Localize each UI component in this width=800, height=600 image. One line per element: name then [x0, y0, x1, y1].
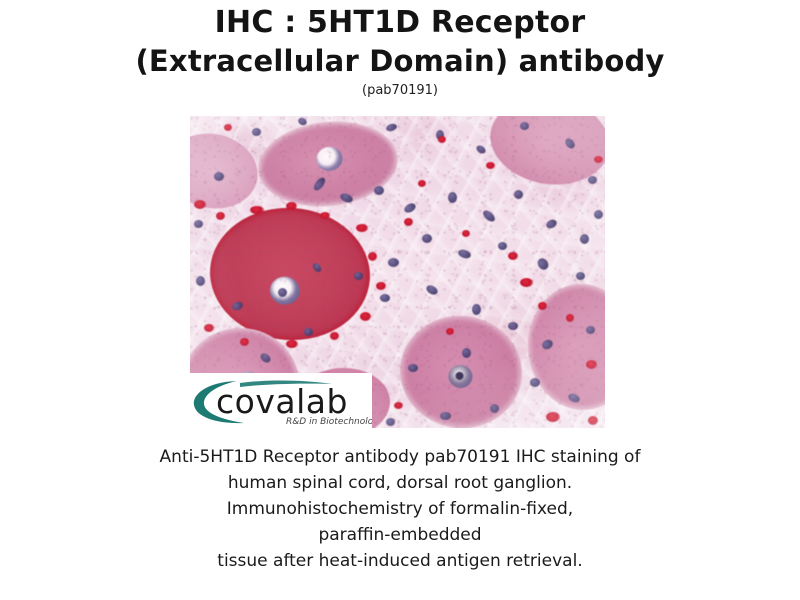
catalog-number: (pab70191) — [0, 82, 800, 99]
logo-wordmark: covalab — [216, 382, 348, 421]
caption-line: Immunohistochemistry of formalin-fixed, — [0, 496, 800, 522]
figure-caption: Anti-5HT1D Receptor antibody pab70191 IH… — [0, 444, 800, 574]
covalab-logo-svg: covalab R&D in Biotechnology — [190, 373, 372, 428]
title-line-primary: IHC : 5HT1D Receptor — [0, 4, 800, 42]
caption-line: paraffin-embedded — [0, 522, 800, 548]
logo-tagline: R&D in Biotechnology — [286, 417, 372, 427]
covalab-logo: covalab R&D in Biotechnology — [190, 373, 372, 428]
figure-page: IHC : 5HT1D Receptor (Extracellular Doma… — [0, 0, 800, 600]
title-line-secondary: (Extracellular Domain) antibody — [0, 42, 800, 80]
caption-line: human spinal cord, dorsal root ganglion. — [0, 470, 800, 496]
caption-line: Anti-5HT1D Receptor antibody pab70191 IH… — [0, 444, 800, 470]
page-title: IHC : 5HT1D Receptor (Extracellular Doma… — [0, 4, 800, 99]
caption-line: tissue after heat-induced antigen retrie… — [0, 548, 800, 574]
